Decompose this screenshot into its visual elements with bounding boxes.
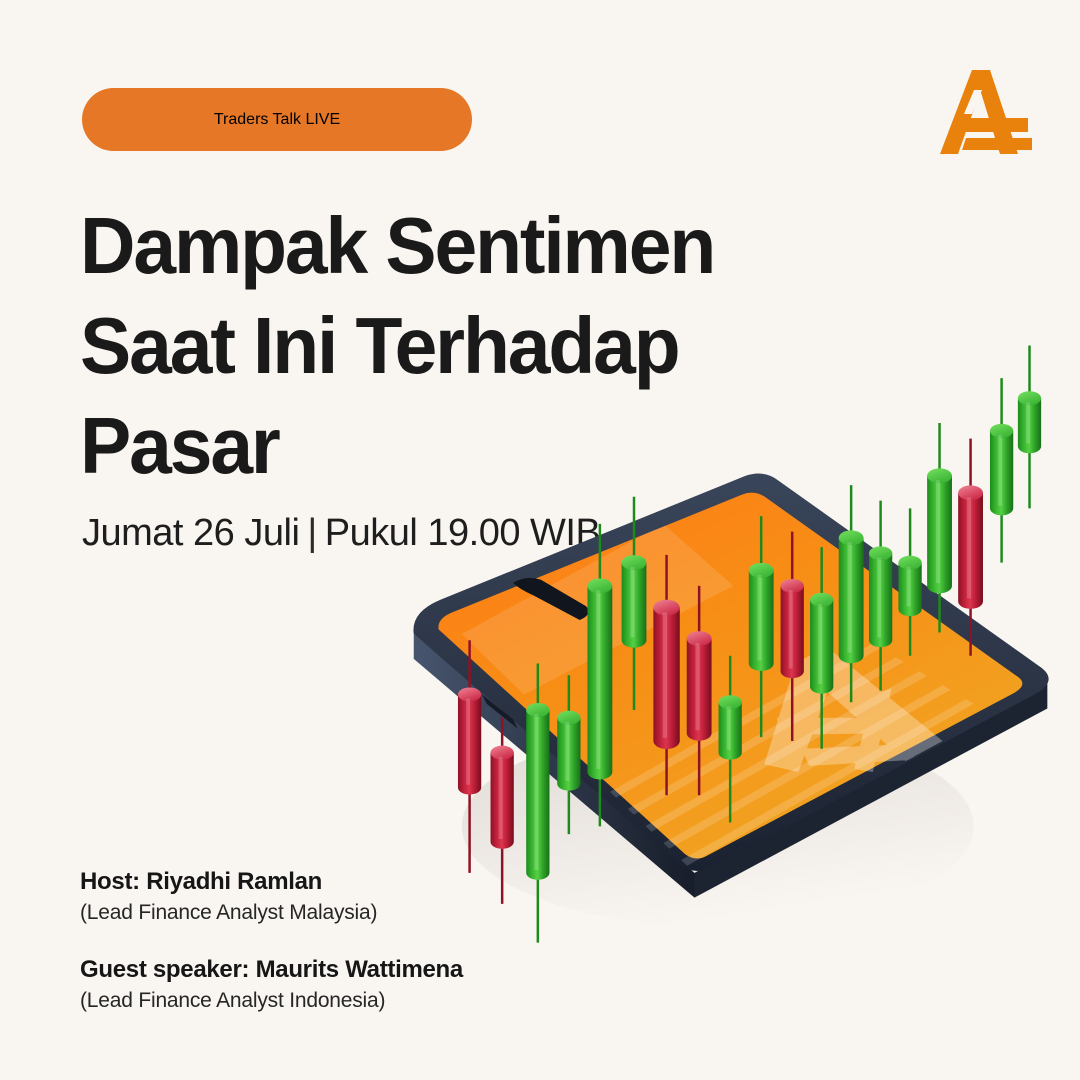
credit-guest-role: (Lead Finance Analyst Indonesia) — [80, 986, 600, 1016]
candle-highlight — [998, 435, 1002, 506]
candle-highlight — [877, 558, 881, 638]
credit-host: Host: Riyadhi Ramlan (Lead Finance Analy… — [80, 866, 600, 928]
candlestick-bullish — [990, 378, 1013, 563]
candle-highlight — [596, 590, 600, 769]
candle-highlight — [818, 604, 822, 684]
candle-highlight — [1026, 402, 1030, 443]
letter-a-logo-icon — [928, 62, 1036, 162]
credit-host-role: (Lead Finance Analyst Malaysia) — [80, 898, 600, 928]
candle-highlight — [695, 643, 699, 730]
candle-highlight — [534, 714, 538, 870]
candle-highlight — [499, 757, 503, 839]
candle-highlight — [757, 575, 761, 661]
schedule-separator: | — [299, 512, 324, 554]
candle-highlight — [847, 542, 851, 652]
brand-logo — [928, 62, 1036, 162]
candlestick-bullish — [1018, 346, 1041, 509]
candle-highlight — [727, 706, 731, 749]
live-badge-label: Traders Talk LIVE — [214, 111, 340, 129]
credits-block: Host: Riyadhi Ramlan (Lead Finance Analy… — [80, 866, 600, 1016]
live-badge[interactable]: Traders Talk LIVE — [82, 88, 472, 151]
schedule-date: Jumat 26 Juli — [82, 512, 299, 554]
credit-guest-name: Guest speaker: Maurits Wattimena — [80, 954, 600, 986]
candle-highlight — [967, 497, 971, 598]
poster-canvas: Traders Talk LIVE Dampak Sentimen Saat I… — [0, 0, 1080, 1080]
candle-highlight — [630, 567, 634, 637]
credit-host-name: Host: Riyadhi Ramlan — [80, 866, 600, 898]
candle-highlight — [466, 699, 470, 785]
candle-highlight — [663, 612, 667, 737]
headline-line-1: Dampak Sentimen — [80, 196, 810, 296]
candle-highlight — [907, 567, 911, 607]
credit-guest: Guest speaker: Maurits Wattimena (Lead F… — [80, 954, 600, 1016]
candle-highlight — [789, 590, 793, 668]
candle-highlight — [565, 722, 569, 781]
candle-highlight — [936, 480, 940, 583]
